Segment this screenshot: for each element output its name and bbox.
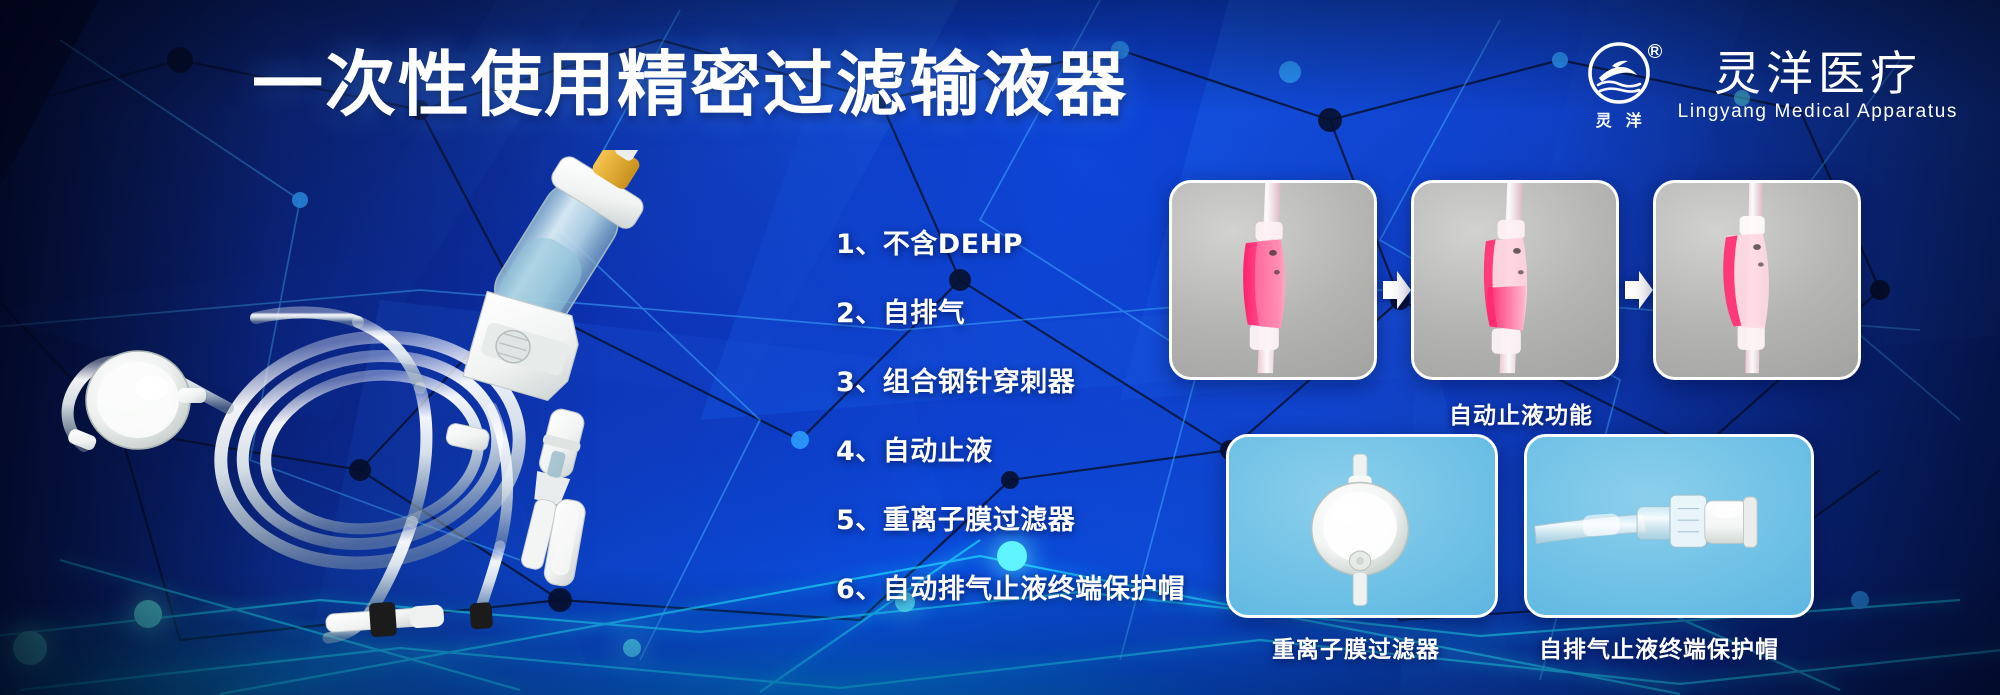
hero-product-image: [40, 150, 820, 650]
arrow-right-icon: [1379, 268, 1413, 312]
list-item: 2、自排气: [836, 291, 1185, 330]
feature-list: 1、不含DEHP 2、自排气 3、组合钢针穿刺器 4、自动止液 5、重离子膜过滤…: [836, 222, 1185, 606]
page-title: 一次性使用精密过滤输液器: [252, 48, 1128, 123]
brand-logo[interactable]: R 灵洋 灵洋医疗 Lingyang Medical Apparatus: [1582, 42, 1958, 131]
photo-card-terminal-protective-cap: [1524, 434, 1814, 618]
logo-mark-caption: 灵洋: [1582, 107, 1656, 131]
caption-terminal-protective-cap: 自排气止液终端保护帽: [1539, 630, 1779, 664]
list-item: 5、重离子膜过滤器: [836, 498, 1185, 537]
caption-auto-stop: 自动止液功能: [1449, 396, 1593, 430]
photo-card-filter-half: [1411, 180, 1619, 380]
list-item: 1、不含DEHP: [836, 222, 1185, 261]
registered-trademark-icon: R: [1648, 44, 1662, 58]
photo-card-heavy-ion-membrane-filter: [1226, 434, 1498, 618]
photo-card-filter-empty: [1653, 180, 1861, 380]
logo-mark: R 灵洋: [1582, 42, 1656, 131]
photo-card-filter-full: [1169, 180, 1377, 380]
list-item: 3、组合钢针穿刺器: [836, 360, 1185, 399]
arrow-right-icon: [1621, 268, 1655, 312]
caption-heavy-ion-membrane-filter: 重离子膜过滤器: [1272, 630, 1440, 664]
logo-wordmark: 灵洋医疗 Lingyang Medical Apparatus: [1678, 50, 1958, 123]
lingyang-wave-circle-logo: R: [1588, 42, 1650, 104]
logo-name-cn: 灵洋医疗: [1714, 50, 1922, 99]
logo-name-en: Lingyang Medical Apparatus: [1678, 101, 1958, 123]
list-item: 4、自动止液: [836, 429, 1185, 468]
product-banner: 一次性使用精密过滤输液器 R 灵洋 灵洋医疗 Lingyang Medical: [0, 0, 2000, 695]
list-item: 6、自动排气止液终端保护帽: [836, 567, 1185, 606]
